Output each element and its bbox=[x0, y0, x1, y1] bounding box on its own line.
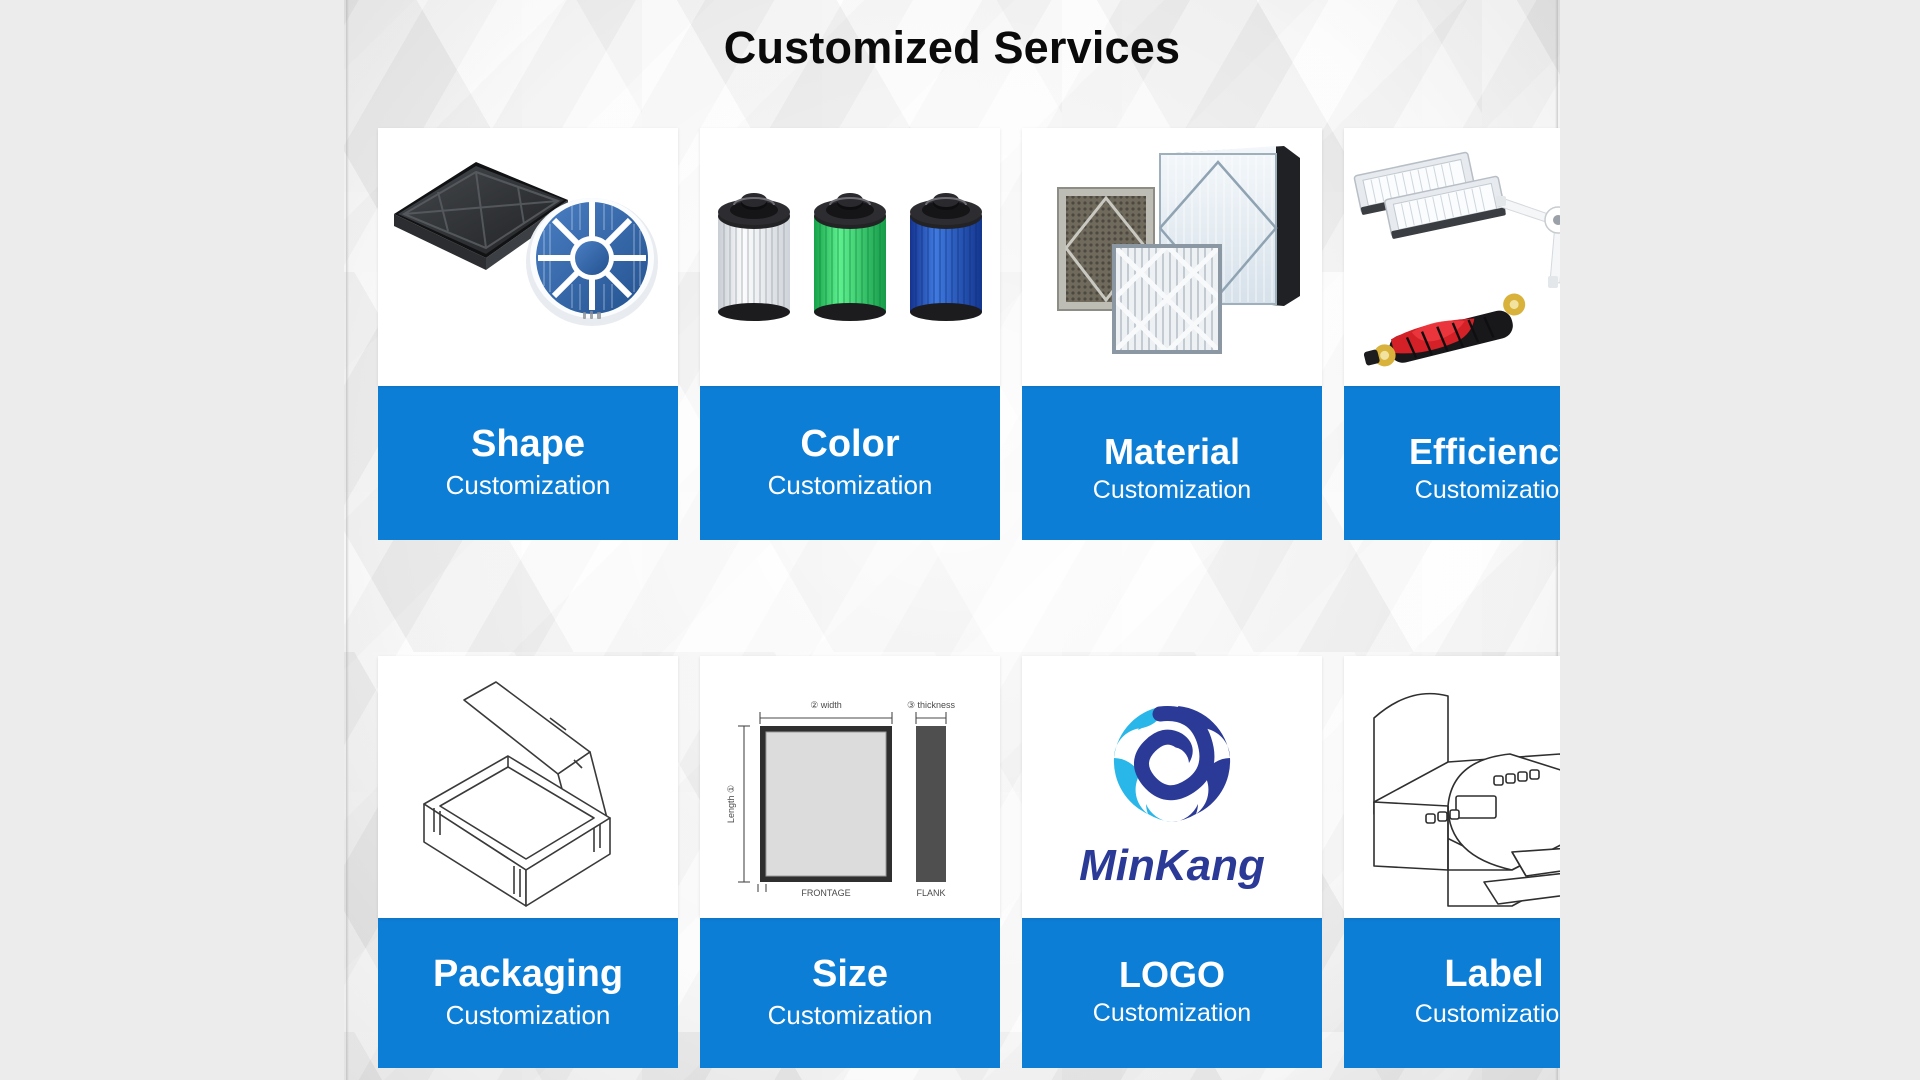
packaging-card-title: Packaging bbox=[433, 955, 623, 995]
size-label-flank: FLANK bbox=[916, 888, 945, 898]
label-printer-line-drawing bbox=[1344, 656, 1560, 918]
material-card-title: Material bbox=[1104, 433, 1240, 471]
size-label-thickness: ③ thickness bbox=[907, 700, 956, 710]
color-card-caption: Color Customization bbox=[700, 386, 1000, 540]
efficiency-card-title: Efficiency bbox=[1409, 433, 1560, 471]
color-card-title: Color bbox=[800, 425, 899, 465]
services-grid: Shape Customization bbox=[378, 128, 1560, 1080]
material-card-caption: Material Customization bbox=[1022, 386, 1322, 540]
size-label-width: ② width bbox=[810, 700, 842, 710]
efficiency-card-subtitle: Customization bbox=[1415, 475, 1560, 506]
logo-card-title: LOGO bbox=[1119, 956, 1225, 994]
material-card-subtitle: Customization bbox=[1093, 475, 1251, 506]
shape-card-subtitle: Customization bbox=[446, 469, 611, 502]
filter-dimension-diagram: ② width ③ thickness bbox=[700, 656, 1000, 918]
logo-card-caption: LOGO Customization bbox=[1022, 918, 1322, 1068]
square-and-round-air-filters-photo bbox=[378, 128, 678, 386]
label-card-title: Label bbox=[1444, 955, 1543, 995]
service-card-size[interactable]: ② width ③ thickness bbox=[700, 656, 1000, 1080]
panel-filter-materials-photo bbox=[1022, 128, 1322, 386]
background-seam-left bbox=[346, 0, 349, 1080]
service-card-label[interactable]: Label Customization bbox=[1344, 656, 1560, 1080]
logo-card-photo: MinKang bbox=[1022, 656, 1322, 918]
size-label-length: Length ① bbox=[726, 785, 736, 823]
size-card-title: Size bbox=[812, 955, 888, 995]
packaging-card-caption: Packaging Customization bbox=[378, 918, 678, 1068]
color-card-subtitle: Customization bbox=[768, 469, 933, 502]
size-card-subtitle: Customization bbox=[768, 999, 933, 1032]
packaging-card-subtitle: Customization bbox=[446, 999, 611, 1032]
service-card-efficiency[interactable]: Efficiency Customization bbox=[1344, 128, 1560, 598]
label-card-caption: Label Customization bbox=[1344, 918, 1560, 1068]
label-card-photo bbox=[1344, 656, 1560, 918]
logo-wordmark: MinKang bbox=[1079, 841, 1265, 890]
left-gutter bbox=[0, 0, 344, 1080]
shape-card-caption: Shape Customization bbox=[378, 386, 678, 540]
label-card-subtitle: Customization bbox=[1415, 999, 1560, 1030]
page-title: Customized Services bbox=[344, 22, 1560, 74]
size-card-photo: ② width ③ thickness bbox=[700, 656, 1000, 918]
service-card-color[interactable]: Color Customization bbox=[700, 128, 1000, 598]
size-label-frontage: FRONTAGE bbox=[801, 888, 850, 898]
service-card-logo[interactable]: MinKang LOGO Customization bbox=[1022, 656, 1322, 1080]
shape-card-photo bbox=[378, 128, 678, 386]
service-card-shape[interactable]: Shape Customization bbox=[378, 128, 678, 598]
efficiency-card-photo bbox=[1344, 128, 1560, 386]
minkang-brand-logo: MinKang bbox=[1022, 656, 1322, 918]
right-gutter bbox=[1576, 0, 1920, 1080]
service-card-material[interactable]: Material Customization bbox=[1022, 128, 1322, 598]
packaging-card-photo bbox=[378, 656, 678, 918]
efficiency-card-caption: Efficiency Customization bbox=[1344, 386, 1560, 540]
material-card-photo bbox=[1022, 128, 1322, 386]
open-carton-box-line-drawing bbox=[378, 656, 678, 918]
size-card-caption: Size Customization bbox=[700, 918, 1000, 1068]
shape-card-title: Shape bbox=[471, 425, 585, 465]
three-colored-cartridge-filters-photo bbox=[700, 128, 1000, 386]
robot-vacuum-parts-photo bbox=[1344, 128, 1560, 386]
service-card-packaging[interactable]: Packaging Customization bbox=[378, 656, 678, 1080]
color-card-photo bbox=[700, 128, 1000, 386]
customized-services-banner: Customized Services bbox=[344, 0, 1560, 1080]
logo-card-subtitle: Customization bbox=[1093, 998, 1251, 1029]
